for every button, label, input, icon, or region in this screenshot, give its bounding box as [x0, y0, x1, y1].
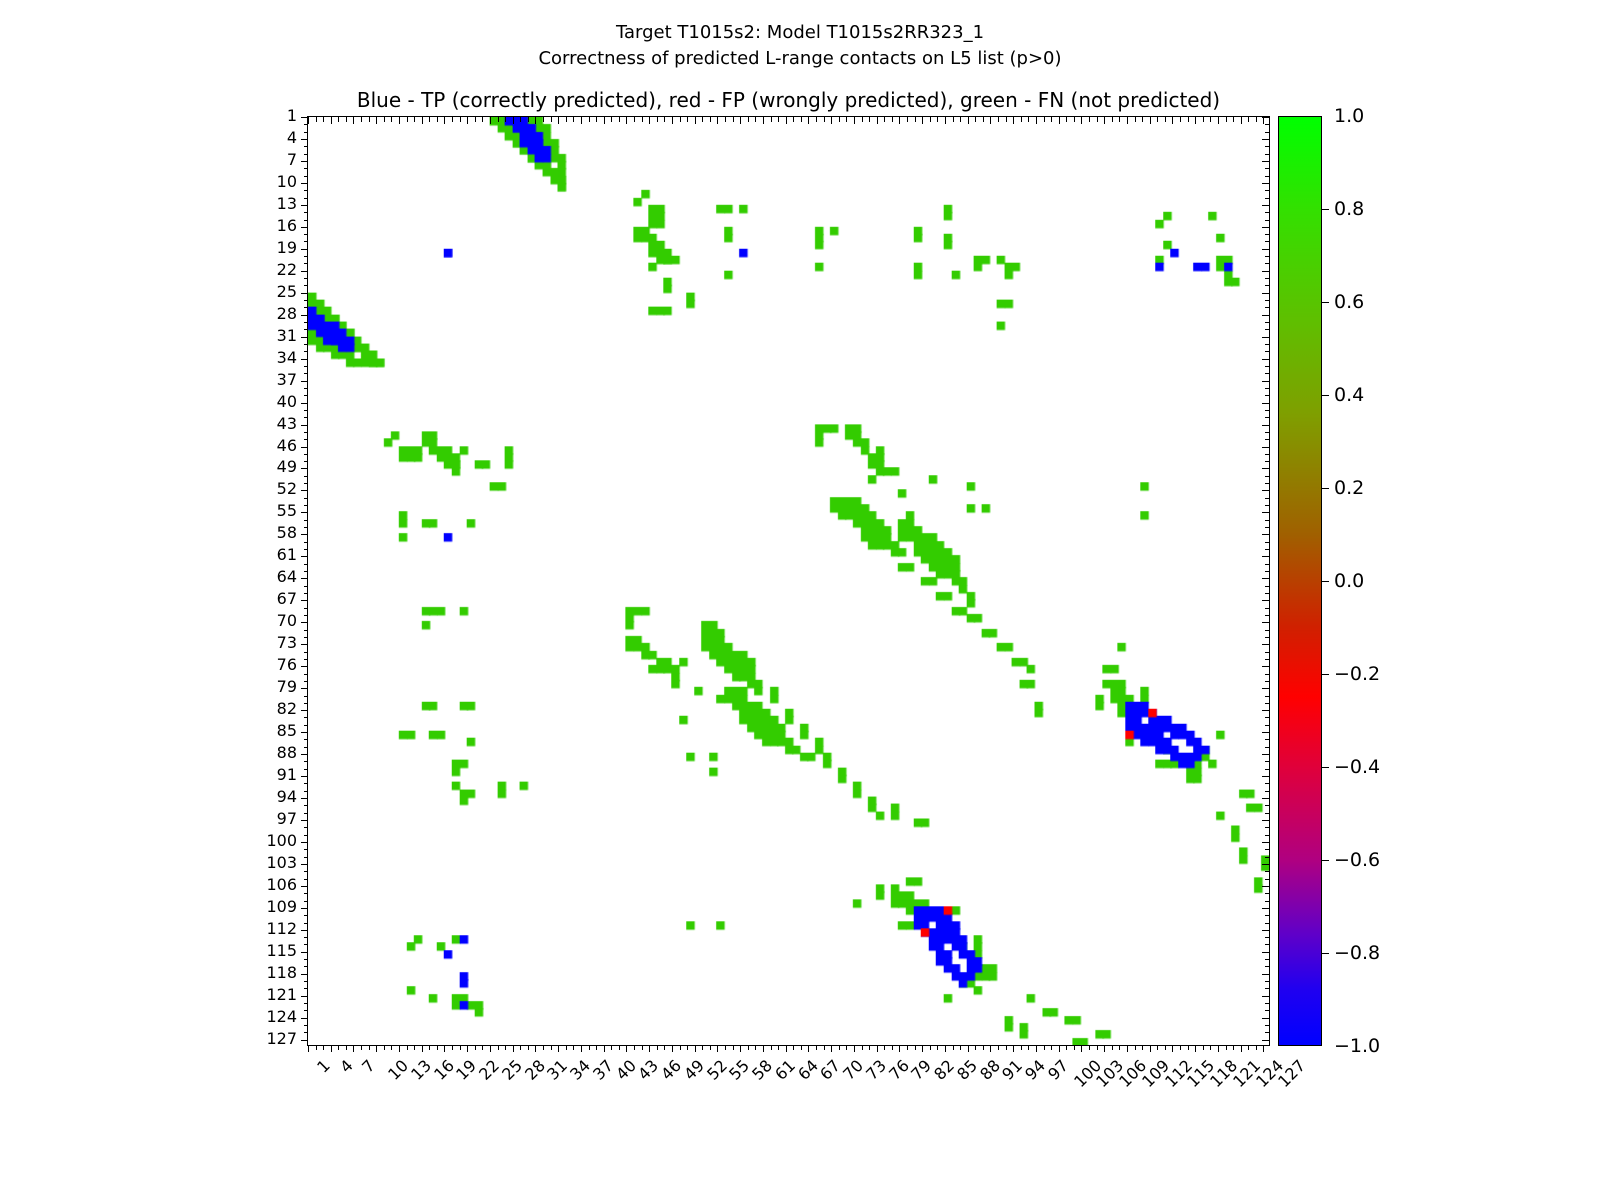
y-tick: [301, 578, 308, 579]
y-tick: [304, 608, 309, 609]
y-tick-right: [1265, 278, 1270, 279]
y-tick: [304, 1025, 309, 1026]
x-tick-top: [808, 117, 809, 124]
x-tick-top: [680, 117, 681, 122]
y-tick-label: 127: [266, 1031, 297, 1047]
x-tick-top: [672, 117, 673, 124]
y-tick-right: [1265, 652, 1270, 653]
x-tick-top: [573, 117, 574, 122]
y-tick-right: [1265, 1010, 1270, 1011]
y-tick-right: [1265, 1025, 1270, 1026]
x-tick-top: [1150, 117, 1151, 124]
y-tick-right: [1262, 666, 1269, 667]
y-tick: [301, 205, 308, 206]
y-tick: [304, 388, 309, 389]
x-tick-top: [346, 117, 347, 122]
y-tick-right: [1265, 373, 1270, 374]
y-tick-right: [1262, 534, 1269, 535]
y-tick-right: [1265, 220, 1270, 221]
y-tick: [301, 468, 308, 469]
y-tick-label: 25: [277, 284, 297, 300]
x-tick-top: [1233, 117, 1234, 122]
y-tick: [304, 871, 309, 872]
figure-title-line-2: Correctness of predicted L-range contact…: [0, 46, 1600, 72]
y-tick: [304, 498, 309, 499]
x-tick-top: [1203, 117, 1204, 122]
y-tick-right: [1265, 739, 1270, 740]
y-tick-right: [1262, 732, 1269, 733]
y-tick: [301, 293, 308, 294]
y-tick-right: [1265, 241, 1270, 242]
y-tick: [304, 966, 309, 967]
x-tick-top: [1089, 117, 1090, 122]
y-tick-right: [1265, 703, 1270, 704]
y-tick-right: [1265, 256, 1270, 257]
y-tick-right: [1265, 915, 1270, 916]
colorbar-tick-label: −0.8: [1334, 944, 1380, 963]
y-tick-right: [1265, 937, 1270, 938]
x-tick-top: [1263, 117, 1264, 124]
x-tick-top: [1104, 117, 1105, 124]
y-tick-label: 46: [277, 438, 297, 454]
y-tick-right: [1265, 366, 1270, 367]
x-tick-label: 97: [1045, 1057, 1071, 1083]
y-tick-right: [1265, 542, 1270, 543]
y-tick: [301, 798, 308, 799]
x-tick-top: [907, 117, 908, 122]
y-tick-right: [1265, 981, 1270, 982]
y-tick: [304, 278, 309, 279]
y-tick-label: 13: [277, 196, 297, 212]
y-tick-right: [1262, 381, 1269, 382]
y-tick: [304, 1010, 309, 1011]
y-tick: [304, 410, 309, 411]
x-tick-top: [953, 117, 954, 122]
y-tick: [301, 820, 308, 821]
x-tick-top: [695, 117, 696, 124]
y-tick-right: [1265, 132, 1270, 133]
y-tick: [301, 732, 308, 733]
y-tick-right: [1265, 717, 1270, 718]
y-tick-right: [1265, 805, 1270, 806]
y-tick-right: [1265, 461, 1270, 462]
y-tick-right: [1265, 439, 1270, 440]
x-tick-top: [589, 117, 590, 122]
x-tick-top: [376, 117, 377, 124]
x-tick-top: [998, 117, 999, 122]
y-tick-right: [1262, 447, 1269, 448]
y-tick: [301, 249, 308, 250]
y-tick-right: [1265, 344, 1270, 345]
x-tick-top: [490, 117, 491, 124]
y-tick-right: [1262, 1018, 1269, 1019]
x-tick-top: [877, 117, 878, 124]
y-tick: [304, 454, 309, 455]
y-tick-right: [1265, 769, 1270, 770]
y-tick-right: [1265, 761, 1270, 762]
y-tick-right: [1262, 644, 1269, 645]
y-tick: [304, 915, 309, 916]
y-tick: [304, 549, 309, 550]
colorbar-tick-label: −1.0: [1334, 1037, 1380, 1056]
y-tick: [301, 271, 308, 272]
y-tick: [301, 842, 308, 843]
y-tick-right: [1265, 417, 1270, 418]
y-tick: [304, 285, 309, 286]
y-tick: [301, 139, 308, 140]
y-tick-right: [1265, 630, 1270, 631]
y-tick: [304, 761, 309, 762]
y-tick-right: [1265, 454, 1270, 455]
x-tick-top: [444, 117, 445, 124]
x-tick-top: [338, 117, 339, 122]
x-tick-top: [642, 117, 643, 122]
y-tick: [304, 198, 309, 199]
y-tick: [301, 622, 308, 623]
y-tick-label: 16: [277, 218, 297, 234]
x-tick-top: [498, 117, 499, 122]
x-tick-top: [755, 117, 756, 122]
x-tick-top: [975, 117, 976, 122]
x-tick-top: [1127, 117, 1128, 124]
y-tick: [304, 329, 309, 330]
y-tick: [301, 974, 308, 975]
y-tick: [304, 615, 309, 616]
y-tick-label: 19: [277, 240, 297, 256]
x-tick-top: [945, 117, 946, 124]
y-tick-right: [1265, 681, 1270, 682]
y-tick-right: [1262, 622, 1269, 623]
y-tick: [304, 593, 309, 594]
x-tick-top: [816, 117, 817, 122]
x-tick-top: [763, 117, 764, 124]
y-tick-label: 91: [277, 767, 297, 783]
x-tick-top: [505, 117, 506, 122]
y-tick: [304, 132, 309, 133]
y-tick: [304, 674, 309, 675]
y-tick-label: 103: [266, 855, 297, 871]
y-tick-right: [1262, 315, 1269, 316]
y-tick: [301, 864, 308, 865]
x-tick-top: [1241, 117, 1242, 124]
y-tick: [304, 681, 309, 682]
y-tick: [304, 351, 309, 352]
colorbar-tick: [1322, 488, 1329, 489]
y-tick-right: [1265, 322, 1270, 323]
y-tick-right: [1265, 1032, 1270, 1033]
colorbar-tick-label: 0.8: [1334, 200, 1364, 219]
colorbar-tick: [1322, 860, 1329, 861]
x-tick-top: [990, 117, 991, 124]
y-tick: [301, 161, 308, 162]
y-tick-right: [1265, 593, 1270, 594]
y-tick-right: [1265, 901, 1270, 902]
y-tick-right: [1262, 205, 1269, 206]
colorbar-tick-label: 0.0: [1334, 572, 1364, 591]
y-tick: [301, 930, 308, 931]
y-tick: [301, 227, 308, 228]
colorbar-tick: [1322, 302, 1329, 303]
y-tick-right: [1265, 674, 1270, 675]
x-tick-top: [831, 117, 832, 124]
y-tick-label: 94: [277, 789, 297, 805]
y-tick-right: [1265, 212, 1270, 213]
y-tick-right: [1265, 608, 1270, 609]
y-tick-right: [1262, 512, 1269, 513]
y-tick-right: [1262, 161, 1269, 162]
y-tick-right: [1262, 578, 1269, 579]
x-tick-top: [1172, 117, 1173, 124]
y-tick: [304, 461, 309, 462]
y-tick: [304, 154, 309, 155]
y-tick-right: [1262, 468, 1269, 469]
y-tick-label: 7: [287, 152, 297, 168]
y-tick: [304, 234, 309, 235]
x-tick-top: [778, 117, 779, 122]
y-tick-right: [1262, 974, 1269, 975]
x-tick-top: [528, 117, 529, 122]
x-tick-top: [535, 117, 536, 124]
x-tick-top: [824, 117, 825, 122]
colorbar-tick-label: −0.4: [1334, 758, 1380, 777]
y-tick-right: [1262, 271, 1269, 272]
y-tick-right: [1262, 930, 1269, 931]
y-tick: [304, 256, 309, 257]
colorbar-tick: [1322, 209, 1329, 210]
x-tick-top: [308, 117, 309, 124]
x-tick-top: [1044, 117, 1045, 122]
x-tick-top: [619, 117, 620, 122]
x-tick-top: [1097, 117, 1098, 122]
y-tick-right: [1262, 556, 1269, 557]
y-tick-right: [1262, 359, 1269, 360]
y-tick-right: [1265, 725, 1270, 726]
y-tick-right: [1265, 300, 1270, 301]
x-tick-top: [687, 117, 688, 122]
y-tick: [301, 1040, 308, 1041]
y-tick-right: [1265, 747, 1270, 748]
y-tick: [301, 447, 308, 448]
y-tick-label: 43: [277, 416, 297, 432]
y-tick-label: 79: [277, 679, 297, 695]
y-tick-right: [1262, 688, 1269, 689]
y-tick-right: [1265, 351, 1270, 352]
y-tick: [304, 791, 309, 792]
y-tick: [304, 395, 309, 396]
y-tick: [301, 183, 308, 184]
y-tick-right: [1262, 1040, 1269, 1041]
y-tick: [304, 124, 309, 125]
x-tick-label: 1: [315, 1057, 334, 1076]
x-tick-top: [657, 117, 658, 122]
y-tick: [301, 425, 308, 426]
y-tick-right: [1265, 988, 1270, 989]
y-tick: [304, 652, 309, 653]
x-tick-top: [604, 117, 605, 124]
x-axis: 1471013161922252831343740434649525558616…: [307, 1046, 1270, 1126]
y-tick-label: 121: [266, 987, 297, 1003]
colorbar-tick-label: 0.2: [1334, 479, 1364, 498]
y-tick: [304, 190, 309, 191]
y-tick: [304, 813, 309, 814]
x-tick-top: [407, 117, 408, 122]
x-tick-top: [316, 117, 317, 122]
y-tick-label: 10: [277, 174, 297, 190]
y-tick: [304, 417, 309, 418]
x-tick-top: [399, 117, 400, 124]
y-tick-right: [1265, 329, 1270, 330]
y-tick: [304, 988, 309, 989]
x-tick-top: [1165, 117, 1166, 122]
y-tick: [304, 769, 309, 770]
y-tick: [301, 776, 308, 777]
y-tick-right: [1265, 388, 1270, 389]
y-tick-right: [1265, 124, 1270, 125]
y-tick: [304, 542, 309, 543]
x-tick-top: [937, 117, 938, 122]
y-tick-right: [1262, 227, 1269, 228]
x-tick-top: [1180, 117, 1181, 122]
x-tick-top: [854, 117, 855, 124]
y-tick-label: 1: [287, 108, 297, 124]
y-tick-right: [1262, 600, 1269, 601]
y-tick: [304, 432, 309, 433]
x-tick-top: [460, 117, 461, 122]
y-tick-right: [1265, 615, 1270, 616]
y-tick: [301, 534, 308, 535]
x-tick-top: [414, 117, 415, 122]
y-tick: [304, 220, 309, 221]
y-tick: [304, 520, 309, 521]
y-tick: [301, 710, 308, 711]
x-tick-top: [1021, 117, 1022, 122]
y-tick-right: [1265, 893, 1270, 894]
x-tick-top: [581, 117, 582, 124]
x-tick-top: [369, 117, 370, 122]
y-tick-right: [1265, 923, 1270, 924]
x-tick-top: [1081, 117, 1082, 124]
y-tick-right: [1265, 586, 1270, 587]
legend-description: Blue - TP (correctly predicted), red - F…: [307, 88, 1270, 112]
y-tick-label: 22: [277, 262, 297, 278]
x-tick-top: [467, 117, 468, 124]
colorbar-tick: [1322, 767, 1329, 768]
x-tick-top: [710, 117, 711, 122]
y-tick: [304, 944, 309, 945]
y-tick-label: 58: [277, 525, 297, 541]
y-tick-label: 85: [277, 723, 297, 739]
y-tick-right: [1265, 966, 1270, 967]
y-tick: [304, 571, 309, 572]
y-tick: [304, 717, 309, 718]
x-tick-top: [391, 117, 392, 122]
y-tick-right: [1265, 849, 1270, 850]
y-tick-right: [1265, 637, 1270, 638]
y-tick-right: [1265, 176, 1270, 177]
y-tick-right: [1262, 798, 1269, 799]
y-tick-right: [1262, 403, 1269, 404]
y-tick: [304, 981, 309, 982]
y-tick: [301, 359, 308, 360]
y-tick: [304, 476, 309, 477]
colorbar-axis: 1.00.80.60.40.20.0−0.2−0.4−0.6−0.8−1.0: [1322, 116, 1402, 1046]
y-tick-right: [1265, 432, 1270, 433]
contact-map-canvas: [308, 117, 1269, 1045]
y-tick: [304, 805, 309, 806]
y-tick: [301, 117, 308, 118]
y-tick-right: [1262, 710, 1269, 711]
y-tick: [304, 703, 309, 704]
x-tick-label: 4: [337, 1057, 356, 1076]
y-tick-label: 70: [277, 613, 297, 629]
y-tick: [304, 564, 309, 565]
colorbar-tick: [1322, 395, 1329, 396]
y-tick-right: [1262, 139, 1269, 140]
y-tick-right: [1265, 146, 1270, 147]
x-tick-top: [1157, 117, 1158, 122]
y-tick-label: 124: [266, 1009, 297, 1025]
colorbar-tick: [1322, 674, 1329, 675]
x-tick-top: [437, 117, 438, 122]
y-tick: [304, 527, 309, 528]
x-tick-top: [717, 117, 718, 124]
y-tick-label: 34: [277, 350, 297, 366]
y-tick-right: [1265, 476, 1270, 477]
x-tick-top: [793, 117, 794, 122]
y-tick: [304, 893, 309, 894]
figure-title-line-1: Target T1015s2: Model T1015s2RR323_1: [0, 20, 1600, 46]
colorbar-tick-label: −0.6: [1334, 851, 1380, 870]
x-tick-top: [983, 117, 984, 122]
y-tick-right: [1265, 549, 1270, 550]
y-tick-right: [1265, 234, 1270, 235]
y-tick-right: [1265, 835, 1270, 836]
x-tick-top: [634, 117, 635, 122]
y-tick: [304, 586, 309, 587]
x-tick-top: [558, 117, 559, 124]
y-tick: [304, 923, 309, 924]
x-tick-top: [846, 117, 847, 122]
y-tick-right: [1262, 337, 1269, 338]
x-tick-top: [786, 117, 787, 124]
x-tick-top: [1051, 117, 1052, 122]
x-tick-top: [513, 117, 514, 124]
x-tick-top: [960, 117, 961, 122]
y-tick-right: [1262, 886, 1269, 887]
y-tick-right: [1262, 293, 1269, 294]
y-tick-label: 61: [277, 547, 297, 563]
y-tick-right: [1265, 659, 1270, 660]
y-tick-label: 82: [277, 701, 297, 717]
x-tick-top: [725, 117, 726, 122]
y-tick: [304, 146, 309, 147]
x-tick-top: [869, 117, 870, 122]
x-tick-top: [452, 117, 453, 122]
y-tick-right: [1262, 776, 1269, 777]
y-tick: [304, 630, 309, 631]
y-tick-label: 88: [277, 745, 297, 761]
y-tick-label: 112: [266, 921, 297, 937]
y-tick: [304, 827, 309, 828]
x-tick-top: [551, 117, 552, 122]
y-tick: [304, 783, 309, 784]
colorbar-tick-label: −0.2: [1334, 665, 1380, 684]
y-tick-right: [1262, 952, 1269, 953]
y-tick-label: 64: [277, 569, 297, 585]
y-tick-right: [1265, 190, 1270, 191]
y-tick: [301, 337, 308, 338]
x-tick-top: [384, 117, 385, 122]
